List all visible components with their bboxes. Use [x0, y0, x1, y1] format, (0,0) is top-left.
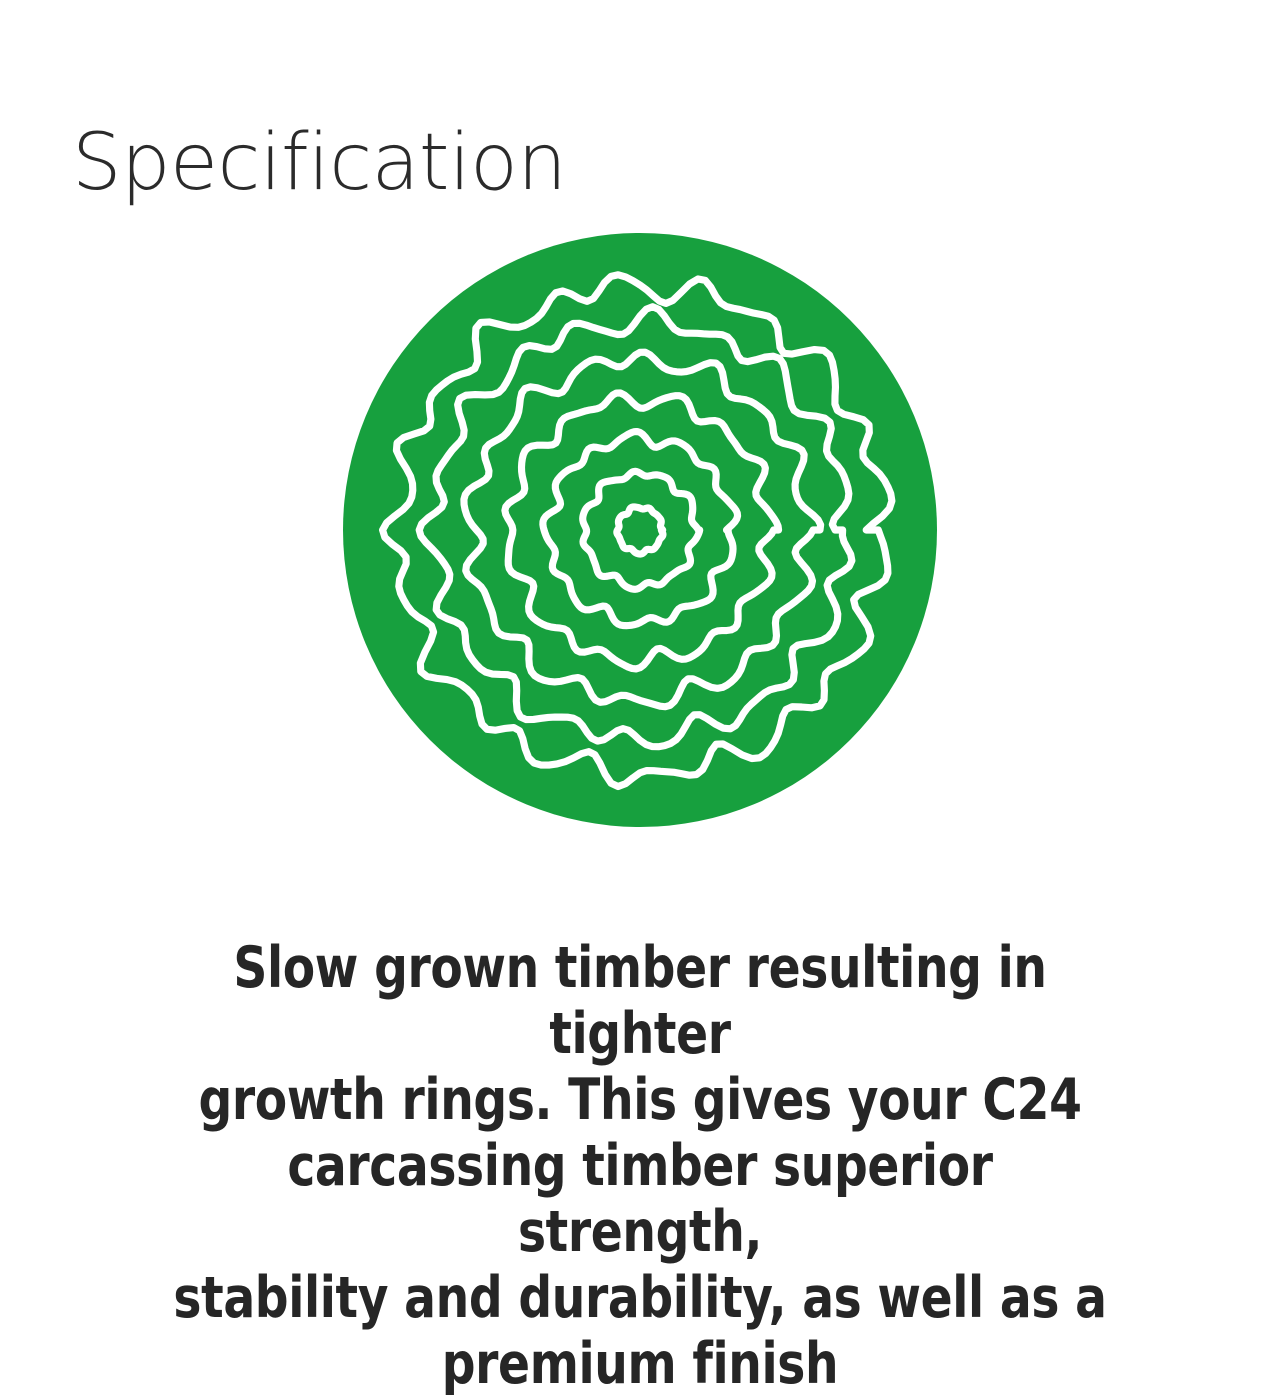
page-title: Specification	[72, 124, 566, 202]
specification-panel: Specification Slow grown timber resultin…	[0, 0, 1280, 1280]
tree-growth-rings-icon	[340, 230, 940, 830]
caption-inner: Slow grown timber resulting in tightergr…	[166, 935, 1114, 1397]
growth-rings-figure	[0, 225, 1280, 835]
caption-text: Slow grown timber resulting in tightergr…	[125, 935, 1155, 1397]
